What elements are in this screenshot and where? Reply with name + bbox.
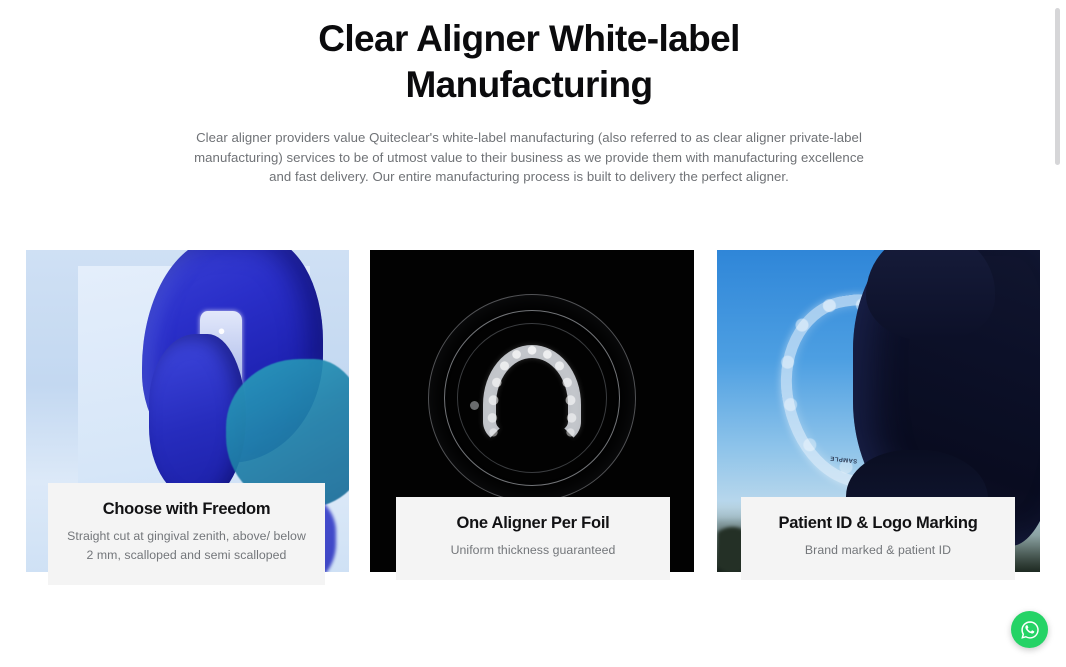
page-title: Clear Aligner White-label Manufacturing [249, 16, 809, 108]
feature-cards-row: Choose with Freedom Straight cut at ging… [0, 250, 1066, 610]
card-caption-box: Patient ID & Logo Marking Brand marked &… [741, 497, 1015, 580]
card-title: Patient ID & Logo Marking [759, 513, 997, 534]
page-header: Clear Aligner White-label Manufacturing … [0, 0, 1058, 187]
card-description: Brand marked & patient ID [759, 541, 997, 560]
whatsapp-icon [1019, 619, 1041, 641]
whatsapp-chat-button[interactable] [1011, 611, 1048, 648]
page-root: Clear Aligner White-label Manufacturing … [0, 0, 1066, 667]
page-scrollbar[interactable] [1052, 0, 1064, 667]
photo-aligner-arch-teeth [477, 343, 587, 447]
intro-paragraph: Clear aligner providers value Quiteclear… [189, 128, 869, 187]
photo-glove-finger-top [866, 250, 995, 340]
card-description: Uniform thickness guaranteed [414, 541, 652, 560]
card-caption-box: One Aligner Per Foil Uniform thickness g… [396, 497, 670, 580]
card-title: Choose with Freedom [66, 499, 307, 520]
card-description: Straight cut at gingival zenith, above/ … [66, 527, 307, 565]
card-caption-box: Choose with Freedom Straight cut at ging… [48, 483, 325, 585]
scrollbar-thumb[interactable] [1055, 8, 1060, 165]
card-title: One Aligner Per Foil [414, 513, 652, 534]
